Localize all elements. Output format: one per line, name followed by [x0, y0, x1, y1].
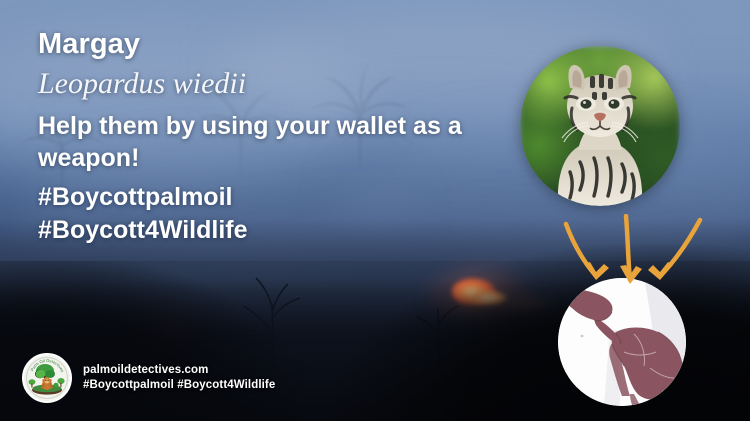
range-pointer-arrows [560, 214, 710, 306]
footer-website-url[interactable]: palmoildetectives.com [83, 363, 275, 378]
poster-copy-block: Margay Leopardus wiedii Help them by usi… [38, 30, 508, 248]
hashtag-boycott4wildlife: #Boycott4Wildlife [38, 214, 508, 248]
hashtag-list: #Boycottpalmoil #Boycott4Wildlife [38, 181, 508, 248]
species-scientific-name: Leopardus wiedii [38, 68, 508, 100]
logo-badge-icon: Palm Oil Detectives [24, 355, 70, 401]
palm-oil-detectives-logo[interactable]: Palm Oil Detectives [22, 353, 72, 403]
poster-canvas: Margay Leopardus wiedii Help them by usi… [0, 0, 750, 421]
arrow-down-icon [560, 214, 710, 306]
footer-branding: Palm Oil Detectives [22, 353, 275, 403]
call-to-action-tagline: Help them by using your wallet as a weap… [38, 110, 488, 175]
species-common-name: Margay [38, 30, 508, 59]
footer-hashtags: #Boycottpalmoil #Boycott4Wildlife [83, 378, 275, 393]
footer-text-block: palmoildetectives.com #Boycottpalmoil #B… [83, 363, 275, 393]
hashtag-boycottpalmoil: #Boycottpalmoil [38, 181, 508, 215]
margay-photo [520, 46, 680, 206]
margay-illustration-icon [520, 46, 680, 206]
